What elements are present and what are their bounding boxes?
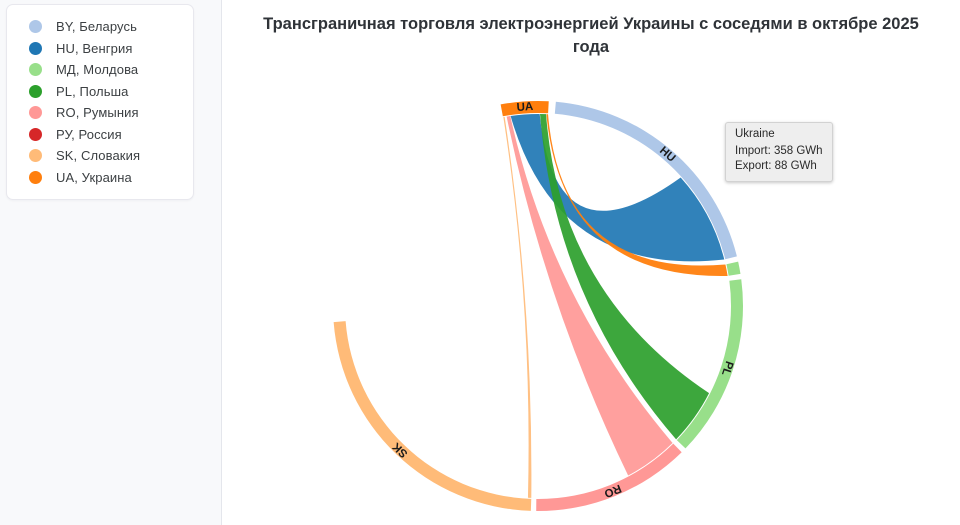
legend-label-ua: UA, Украина	[56, 170, 132, 185]
legend-swatch-ua	[29, 171, 42, 184]
legend-card: BY, Беларусь HU, Венгрия МД, Молдова PL,…	[6, 4, 194, 200]
chord-arc-sk[interactable]	[334, 321, 532, 511]
legend-swatch-pl	[29, 85, 42, 98]
legend-item-hu[interactable]: HU, Венгрия	[19, 38, 183, 59]
legend-item-md[interactable]: МД, Молдова	[19, 59, 183, 80]
legend-swatch-ru	[29, 128, 42, 141]
legend-item-by[interactable]: BY, Беларусь	[19, 16, 183, 37]
legend-label-ru: РУ, Россия	[56, 127, 122, 142]
app-root: BY, Беларусь HU, Венгрия МД, Молдова PL,…	[0, 0, 960, 525]
legend-label-by: BY, Беларусь	[56, 19, 137, 34]
legend-item-sk[interactable]: SK, Словакия	[19, 145, 183, 166]
legend-label-md: МД, Молдова	[56, 62, 138, 77]
legend-item-pl[interactable]: PL, Польша	[19, 81, 183, 102]
legend-item-ro[interactable]: RO, Румыния	[19, 102, 183, 123]
chord-ribbon-ua-sk[interactable]	[503, 117, 531, 498]
ribbons-layer	[503, 114, 727, 498]
chart-pane: Трансграничная торговля электроэнергией …	[222, 0, 960, 525]
legend-label-sk: SK, Словакия	[56, 148, 140, 163]
chord-arc-label-ua: UA	[516, 101, 533, 114]
legend-swatch-sk	[29, 149, 42, 162]
chord-arc-md[interactable]	[726, 262, 740, 276]
legend-label-pl: PL, Польша	[56, 84, 128, 99]
legend-swatch-md	[29, 63, 42, 76]
legend-label-hu: HU, Венгрия	[56, 41, 132, 56]
legend-swatch-ro	[29, 106, 42, 119]
legend-swatch-by	[29, 20, 42, 33]
legend-label-ro: RO, Румыния	[56, 105, 139, 120]
legend-swatch-hu	[29, 42, 42, 55]
chord-diagram[interactable]: UAHUPLROSK	[222, 0, 960, 525]
legend-item-ru[interactable]: РУ, Россия	[19, 124, 183, 145]
legend-item-ua[interactable]: UA, Украина	[19, 167, 183, 188]
legend-pane: BY, Беларусь HU, Венгрия МД, Молдова PL,…	[0, 0, 222, 525]
